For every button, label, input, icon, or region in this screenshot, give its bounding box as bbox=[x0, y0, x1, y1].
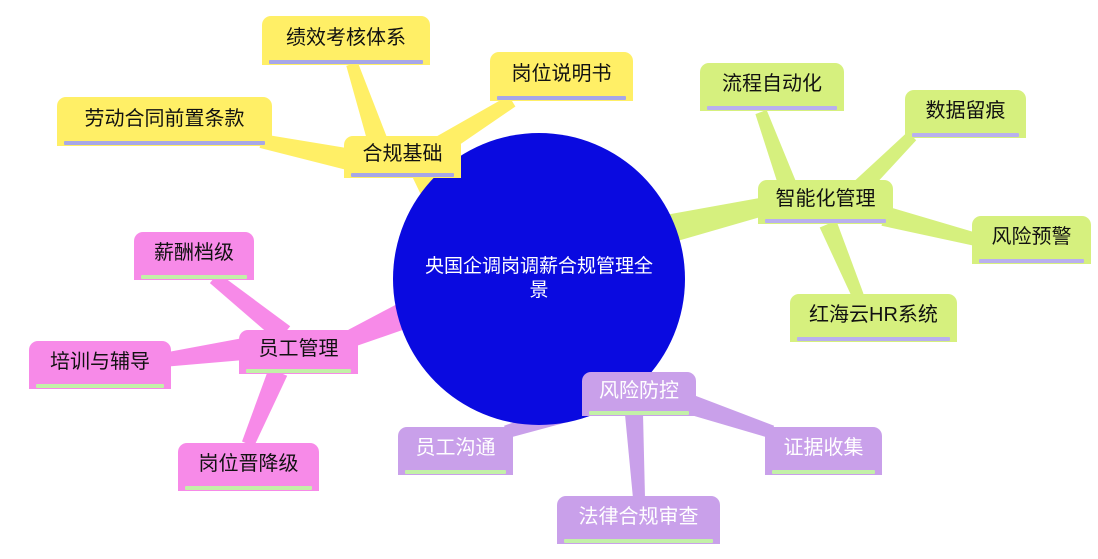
child-node-process-automation-label: 流程自动化 bbox=[722, 73, 822, 96]
child-node-job-description[interactable]: 岗位说明书 bbox=[490, 52, 633, 101]
branch-node-employee-management[interactable]: 员工管理 bbox=[239, 330, 358, 374]
central-topic-label: 央国企调岗调薪合规管理全景 bbox=[421, 255, 657, 304]
branch-node-compliance-basis-underline bbox=[351, 173, 454, 177]
edge-center-intelligent bbox=[669, 197, 768, 241]
child-node-employee-communication-label: 员工沟通 bbox=[416, 437, 496, 460]
edge-employee-training bbox=[162, 338, 245, 367]
branch-node-risk-prevention-label: 风险防控 bbox=[599, 380, 679, 403]
branch-node-employee-management-underline bbox=[246, 369, 351, 373]
edge-compliance-performance bbox=[346, 62, 387, 145]
child-node-data-trace-label: 数据留痕 bbox=[926, 100, 1006, 123]
child-node-training-and-coaching-label: 培训与辅导 bbox=[50, 351, 150, 374]
child-node-salary-grade-label: 薪酬档级 bbox=[154, 242, 234, 265]
child-node-training-and-coaching-underline bbox=[36, 384, 164, 388]
edge-employee-promotion bbox=[242, 368, 287, 446]
edge-intelligent-process bbox=[755, 110, 796, 189]
branch-node-intelligent-management-label: 智能化管理 bbox=[776, 188, 876, 211]
branch-node-compliance-basis[interactable]: 合规基础 bbox=[344, 136, 461, 178]
child-node-honghaiyun-hr-system-underline bbox=[797, 337, 950, 341]
child-node-labor-contract-clause[interactable]: 劳动合同前置条款 bbox=[57, 97, 272, 146]
child-node-risk-alert-label: 风险预警 bbox=[992, 226, 1072, 249]
branch-node-intelligent-management[interactable]: 智能化管理 bbox=[758, 180, 893, 224]
child-node-legal-compliance-review-label: 法律合规审查 bbox=[579, 506, 699, 529]
edge-compliance-contract bbox=[260, 134, 355, 171]
child-node-performance-appraisal-system[interactable]: 绩效考核体系 bbox=[262, 16, 430, 65]
child-node-data-trace-underline bbox=[912, 133, 1019, 137]
child-node-performance-appraisal-system-underline bbox=[269, 60, 423, 64]
branch-node-risk-prevention-underline bbox=[589, 411, 689, 415]
child-node-process-automation-underline bbox=[707, 106, 837, 110]
branch-node-intelligent-management-underline bbox=[765, 219, 886, 223]
child-node-position-promotion-demotion[interactable]: 岗位晋降级 bbox=[178, 443, 319, 491]
child-node-evidence-collection-label: 证据收集 bbox=[784, 437, 864, 460]
child-node-labor-contract-clause-underline bbox=[64, 141, 265, 145]
child-node-risk-alert[interactable]: 风险预警 bbox=[972, 216, 1091, 264]
branch-node-employee-management-label: 员工管理 bbox=[259, 338, 339, 361]
child-node-data-trace[interactable]: 数据留痕 bbox=[905, 90, 1026, 138]
branch-node-compliance-basis-label: 合规基础 bbox=[363, 143, 443, 166]
child-node-position-promotion-demotion-underline bbox=[185, 486, 312, 490]
child-node-risk-alert-underline bbox=[979, 259, 1084, 263]
child-node-salary-grade[interactable]: 薪酬档级 bbox=[134, 232, 254, 280]
child-node-performance-appraisal-system-label: 绩效考核体系 bbox=[286, 27, 406, 50]
mindmap-canvas: 央国企调岗调薪合规管理全景合规基础绩效考核体系岗位说明书劳动合同前置条款智能化管… bbox=[0, 0, 1098, 559]
child-node-job-description-underline bbox=[497, 96, 626, 100]
edge-intelligent-hr bbox=[820, 221, 864, 299]
child-node-job-description-label: 岗位说明书 bbox=[512, 63, 612, 86]
child-node-process-automation[interactable]: 流程自动化 bbox=[700, 63, 844, 111]
edge-risk-evidence bbox=[686, 395, 774, 439]
child-node-training-and-coaching[interactable]: 培训与辅导 bbox=[29, 341, 171, 389]
child-node-labor-contract-clause-label: 劳动合同前置条款 bbox=[85, 108, 245, 131]
child-node-employee-communication[interactable]: 员工沟通 bbox=[398, 427, 513, 475]
branch-node-risk-prevention[interactable]: 风险防控 bbox=[582, 372, 696, 416]
child-node-evidence-collection[interactable]: 证据收集 bbox=[765, 427, 882, 475]
edge-risk-legal bbox=[625, 414, 645, 499]
child-node-employee-communication-underline bbox=[405, 470, 506, 474]
child-node-evidence-collection-underline bbox=[772, 470, 875, 474]
child-node-position-promotion-demotion-label: 岗位晋降级 bbox=[199, 453, 299, 476]
edge-intelligent-riskalert bbox=[882, 206, 980, 246]
child-node-honghaiyun-hr-system[interactable]: 红海云HR系统 bbox=[790, 294, 957, 342]
child-node-legal-compliance-review[interactable]: 法律合规审查 bbox=[557, 496, 720, 544]
child-node-salary-grade-underline bbox=[141, 275, 247, 279]
child-node-legal-compliance-review-underline bbox=[564, 539, 713, 543]
child-node-honghaiyun-hr-system-label: 红海云HR系统 bbox=[809, 304, 938, 327]
